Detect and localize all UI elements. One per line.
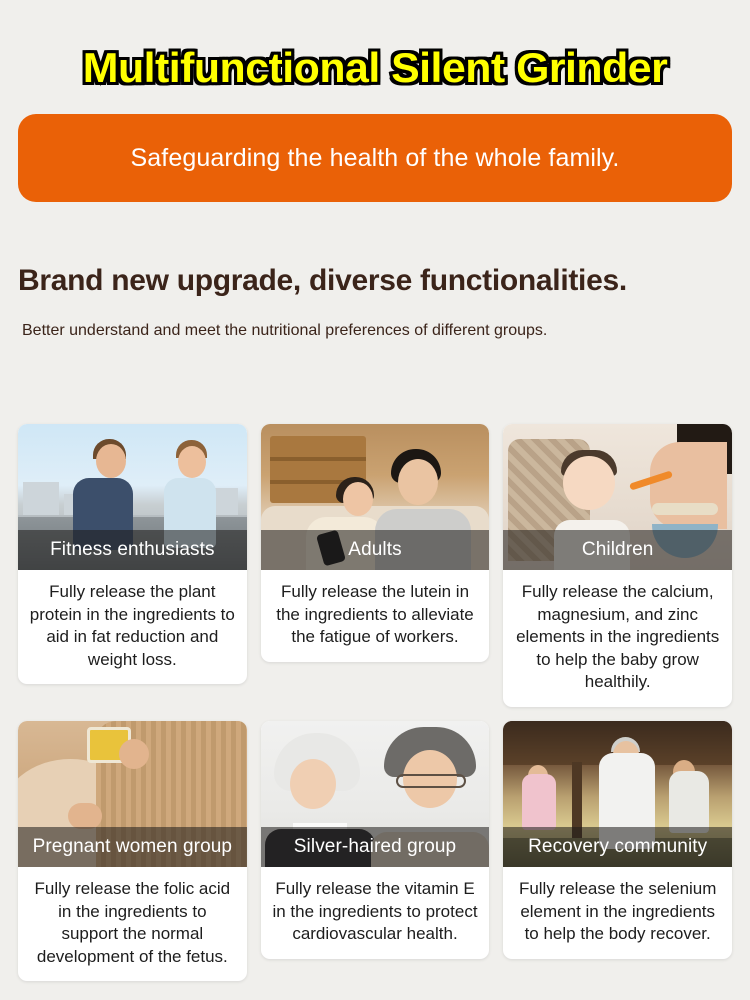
page-header: Multifunctional Silent Grinder xyxy=(0,0,750,90)
card-caption: Silver-haired group xyxy=(294,836,456,858)
section-heading: Brand new upgrade, diverse functionaliti… xyxy=(18,264,750,298)
card-caption-bar: Children xyxy=(503,530,732,570)
card-caption-bar: Pregnant women group xyxy=(18,827,247,867)
audience-card[interactable]: Fitness enthusiasts Fully release the pl… xyxy=(18,424,247,684)
card-description: Fully release the calcium, magnesium, an… xyxy=(503,570,732,707)
audience-card[interactable]: Adults Fully release the lutein in the i… xyxy=(261,424,490,662)
card-image: Silver-haired group xyxy=(261,721,490,867)
card-caption-bar: Recovery community xyxy=(503,827,732,867)
card-description: Fully release the lutein in the ingredie… xyxy=(261,570,490,662)
audience-card[interactable]: Pregnant women group Fully release the f… xyxy=(18,721,247,981)
section-subheading: Better understand and meet the nutrition… xyxy=(22,322,750,340)
audience-card[interactable]: Children Fully release the calcium, magn… xyxy=(503,424,732,707)
tagline-text: Safeguarding the health of the whole fam… xyxy=(131,144,620,173)
card-description: Fully release the selenium element in th… xyxy=(503,867,732,959)
card-description: Fully release the plant protein in the i… xyxy=(18,570,247,684)
audience-card[interactable]: Recovery community Fully release the sel… xyxy=(503,721,732,959)
page-title: Multifunctional Silent Grinder xyxy=(0,46,750,90)
card-row-bottom: Pregnant women group Fully release the f… xyxy=(18,721,732,981)
card-caption-bar: Silver-haired group xyxy=(261,827,490,867)
card-description: Fully release the vitamin E in the ingre… xyxy=(261,867,490,959)
audience-card[interactable]: Silver-haired group Fully release the vi… xyxy=(261,721,490,959)
card-caption: Fitness enthusiasts xyxy=(50,539,215,561)
card-caption: Recovery community xyxy=(528,836,707,858)
card-image: Children xyxy=(503,424,732,570)
audience-card-grid: Fitness enthusiasts Fully release the pl… xyxy=(18,424,732,981)
card-caption-bar: Adults xyxy=(261,530,490,570)
card-image: Recovery community xyxy=(503,721,732,867)
card-image: Adults xyxy=(261,424,490,570)
card-description: Fully release the folic acid in the ingr… xyxy=(18,867,247,981)
card-caption-bar: Fitness enthusiasts xyxy=(18,530,247,570)
card-caption: Pregnant women group xyxy=(33,836,233,858)
card-row-top: Fitness enthusiasts Fully release the pl… xyxy=(18,424,732,707)
card-caption: Children xyxy=(582,539,654,561)
card-image: Fitness enthusiasts xyxy=(18,424,247,570)
card-image: Pregnant women group xyxy=(18,721,247,867)
card-caption: Adults xyxy=(348,539,401,561)
tagline-banner: Safeguarding the health of the whole fam… xyxy=(18,114,732,202)
